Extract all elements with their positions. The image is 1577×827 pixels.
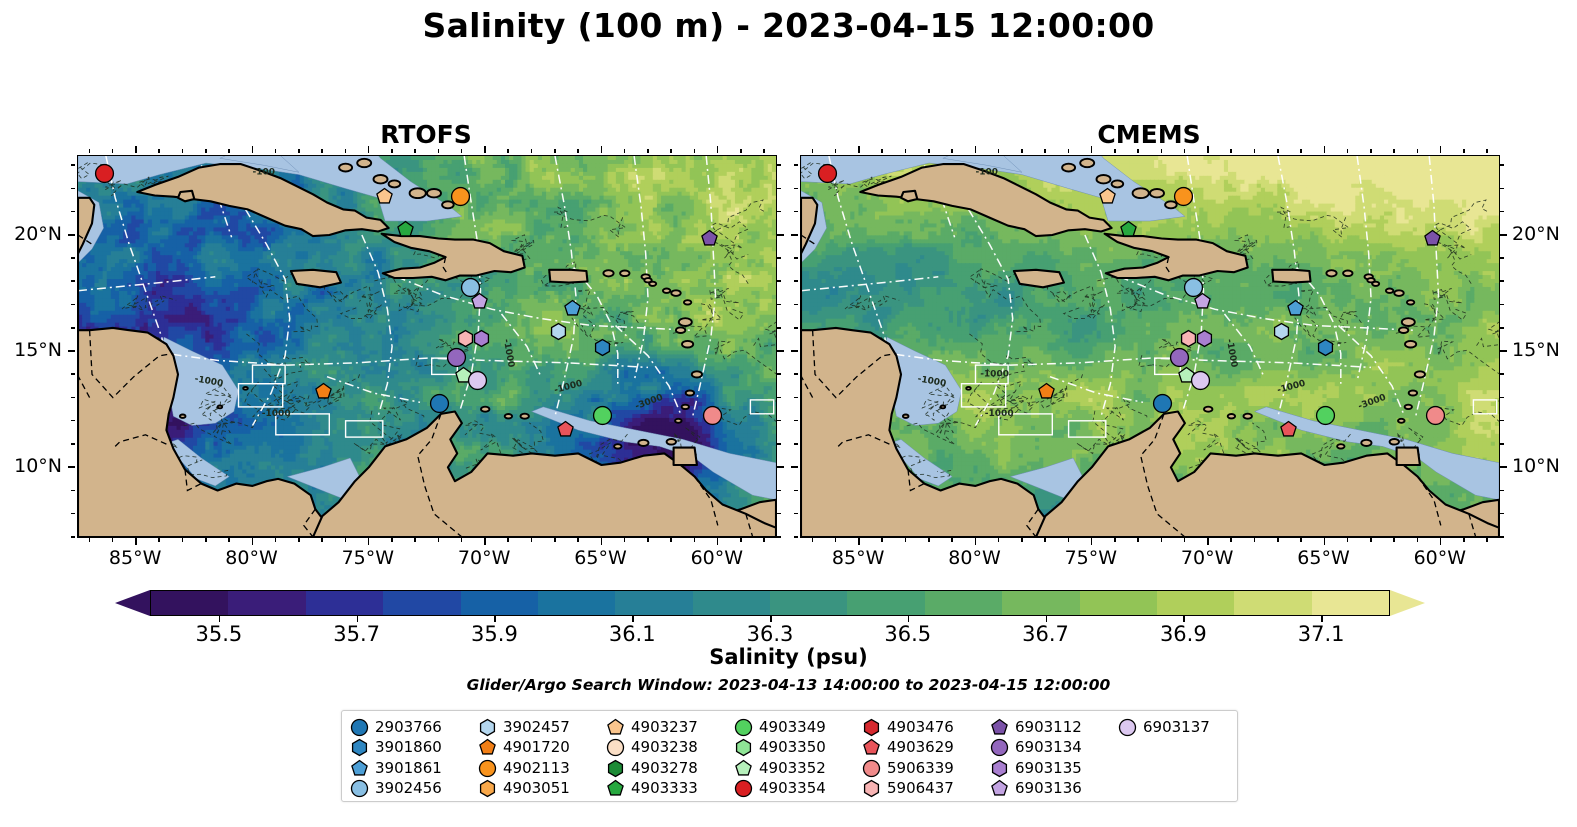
legend-item-label: 4903476: [887, 720, 954, 735]
x-tick-rtofs: [275, 538, 277, 542]
y-tick-right-cmems: [1500, 536, 1504, 538]
x-tick-top-rtofs: [252, 146, 254, 153]
legend-item-label: 4903238: [631, 740, 698, 755]
legend-marker-icon: [991, 780, 1008, 797]
legend-item-label: 4903051: [503, 781, 570, 796]
x-tick-top-cmems: [1091, 146, 1093, 153]
x-tick-cmems: [1068, 538, 1070, 542]
x-tick-rtofs: [321, 538, 323, 542]
legend-marker-icon: [1119, 719, 1136, 736]
platform-marker-4903354[interactable]: [818, 164, 837, 183]
legend-item-label: 4903333: [631, 781, 698, 796]
y-tick-label-cmems: 10°N: [1512, 455, 1577, 477]
x-tick-cmems: [835, 538, 837, 542]
colorbar-tick-label: 37.1: [1271, 622, 1371, 646]
x-tick-top-cmems: [1347, 149, 1349, 153]
platform-marker-4901720[interactable]: [1038, 383, 1055, 400]
legend-item-label: 6903136: [1015, 781, 1082, 796]
colorbar-band-6: [615, 591, 692, 615]
legend-item-6903136[interactable]: 6903136: [991, 779, 1119, 800]
x-tick-rtofs: [531, 538, 533, 542]
platform-marker-5906437[interactable]: [457, 330, 474, 347]
colorbar-band-15: [1312, 591, 1389, 615]
x-tick-cmems: [1463, 538, 1465, 542]
legend-marker-icon: [607, 719, 624, 736]
x-tick-top-rtofs: [624, 149, 626, 153]
y-tick-left-rtofs: [71, 257, 75, 259]
legend-item-4903333[interactable]: 4903333: [607, 779, 735, 800]
x-tick-top-cmems: [1440, 146, 1442, 153]
x-tick-cmems: [1021, 538, 1023, 542]
x-tick-top-cmems: [1277, 149, 1279, 153]
y-tick-right-cmems: [1500, 164, 1504, 166]
x-tick-label-rtofs: 70°W: [439, 547, 529, 569]
platform-marker-4903629[interactable]: [1280, 421, 1297, 438]
x-tick-rtofs: [763, 538, 765, 542]
x-tick-label-cmems: 65°W: [1279, 547, 1369, 569]
legend-item-label: 4903278: [631, 761, 698, 776]
x-tick-label-cmems: 85°W: [813, 547, 903, 569]
x-tick-top-cmems: [1463, 149, 1465, 153]
y-tick-left-cmems: [794, 164, 798, 166]
platform-marker-6903134[interactable]: [1170, 348, 1189, 367]
x-tick-cmems: [1044, 538, 1046, 542]
platform-marker-3901861[interactable]: [1287, 300, 1304, 317]
x-tick-top-rtofs: [158, 149, 160, 153]
colorbar-band-1: [228, 591, 305, 615]
platform-marker-6903136[interactable]: [471, 293, 488, 310]
y-tick-left-rtofs: [71, 490, 75, 492]
map-panel-rtofs[interactable]: -1000-1000-1000-1000-3000-100: [77, 155, 777, 538]
x-tick-top-cmems: [1417, 149, 1419, 153]
y-tick-right-cmems: [1500, 397, 1504, 399]
y-tick-right-cmems: [1500, 280, 1504, 282]
colorbar-band-2: [306, 591, 383, 615]
y-tick-left-cmems: [794, 420, 798, 422]
y-tick-left-cmems: [794, 304, 798, 306]
platform-marker-3902457[interactable]: [1273, 323, 1290, 340]
legend-item-6903135[interactable]: 6903135: [991, 758, 1119, 779]
x-tick-top-cmems: [1324, 146, 1326, 153]
y-tick-right-rtofs: [777, 188, 781, 190]
platform-marker-6903134[interactable]: [447, 348, 466, 367]
legend-marker-icon: [863, 719, 880, 736]
legend-item-4903352[interactable]: 4903352: [735, 758, 863, 779]
platform-marker-5906437[interactable]: [1180, 330, 1197, 347]
x-tick-top-rtofs: [205, 149, 207, 153]
y-tick-right-rtofs: [777, 397, 781, 399]
x-tick-rtofs: [252, 538, 254, 545]
x-tick-rtofs: [647, 538, 649, 542]
legend-item-label: 2903766: [375, 720, 442, 735]
legend-item-label: 3901861: [375, 761, 442, 776]
legend-grid: 2903766 3902457 4903237 4903349 4903476 …: [351, 717, 1247, 799]
y-tick-left-cmems: [794, 211, 798, 213]
x-tick-rtofs: [345, 538, 347, 542]
x-tick-top-cmems: [905, 149, 907, 153]
y-tick-right-rtofs: [777, 443, 781, 445]
x-tick-label-cmems: 70°W: [1162, 547, 1252, 569]
y-tick-left-cmems: [794, 188, 798, 190]
legend-item-3901860[interactable]: 3901860: [351, 738, 479, 759]
x-tick-rtofs: [694, 538, 696, 542]
x-tick-cmems: [1393, 538, 1395, 542]
platform-marker-5906339[interactable]: [703, 406, 722, 425]
y-tick-label-rtofs: 15°N: [0, 339, 62, 361]
legend-item-label: 3901860: [375, 740, 442, 755]
colorbar-label: Salinity (psu): [0, 645, 1577, 669]
x-tick-top-rtofs: [740, 149, 742, 153]
x-tick-cmems: [975, 538, 977, 545]
platform-marker-4901720[interactable]: [315, 383, 332, 400]
x-tick-rtofs: [182, 538, 184, 542]
x-tick-top-rtofs: [647, 149, 649, 153]
legend-item-3902457[interactable]: 3902457: [479, 717, 607, 738]
x-tick-rtofs: [554, 538, 556, 542]
x-tick-cmems: [905, 538, 907, 542]
x-tick-rtofs: [438, 538, 440, 542]
x-tick-top-cmems: [928, 149, 930, 153]
platform-marker-6903135[interactable]: [473, 330, 490, 347]
x-tick-cmems: [1277, 538, 1279, 542]
x-tick-rtofs: [158, 538, 160, 542]
x-tick-top-rtofs: [670, 149, 672, 153]
legend-item-label: 5906437: [887, 781, 954, 796]
x-tick-cmems: [1370, 538, 1372, 542]
legend-item-label: 3902456: [375, 781, 442, 796]
platform-marker-4903237[interactable]: [376, 188, 393, 205]
legend-item-4901720[interactable]: 4901720: [479, 738, 607, 759]
y-tick-label-cmems: 20°N: [1512, 223, 1577, 245]
legend-item-2903766[interactable]: 2903766: [351, 717, 479, 738]
y-tick-label-rtofs: 10°N: [0, 455, 62, 477]
legend-item-label: 6903112: [1015, 720, 1082, 735]
y-tick-left-rtofs: [71, 373, 75, 375]
x-tick-rtofs: [577, 538, 579, 542]
legend-item-label: 6903137: [1143, 720, 1210, 735]
colorbar-tick-label: 36.1: [582, 622, 682, 646]
x-tick-top-cmems: [881, 149, 883, 153]
x-tick-rtofs: [391, 538, 393, 542]
y-tick-left-rtofs: [68, 350, 75, 352]
y-tick-right-cmems: [1500, 490, 1504, 492]
x-tick-top-cmems: [1044, 149, 1046, 153]
x-tick-cmems: [881, 538, 883, 542]
y-tick-right-cmems: [1500, 327, 1504, 329]
x-tick-top-rtofs: [89, 149, 91, 153]
x-tick-top-cmems: [1254, 149, 1256, 153]
platform-marker-6903112[interactable]: [701, 230, 718, 247]
x-tick-label-rtofs: 65°W: [556, 547, 646, 569]
y-tick-right-rtofs: [777, 536, 781, 538]
platform-marker-3901860[interactable]: [594, 339, 611, 356]
legend-item-label: 4903350: [759, 740, 826, 755]
platform-marker-3902457[interactable]: [550, 323, 567, 340]
x-tick-cmems: [812, 538, 814, 542]
x-tick-rtofs: [298, 538, 300, 542]
x-tick-top-rtofs: [438, 149, 440, 153]
salinity-field-rtofs: -1000-1000-1000-1000-3000-100: [78, 156, 776, 537]
colorbar-tick-label: 35.9: [444, 622, 544, 646]
y-tick-left-cmems: [794, 280, 798, 282]
legend-marker-icon: [863, 780, 880, 797]
platform-marker-4903629[interactable]: [557, 421, 574, 438]
colorbar-band-5: [538, 591, 615, 615]
search-window-caption: Glider/Argo Search Window: 2023-04-13 14…: [0, 676, 1577, 694]
x-tick-rtofs: [601, 538, 603, 545]
colorbar-band-8: [770, 591, 847, 615]
y-tick-right-cmems: [1500, 188, 1504, 190]
legend-item-label: 6903134: [1015, 740, 1082, 755]
x-tick-cmems: [858, 538, 860, 545]
legend-item-6903137[interactable]: 6903137: [1119, 717, 1247, 738]
legend-item-6903134[interactable]: 6903134: [991, 738, 1119, 759]
legend-item-4903350[interactable]: 4903350: [735, 738, 863, 759]
platform-marker-6903137[interactable]: [1191, 371, 1210, 390]
x-tick-top-cmems: [1393, 149, 1395, 153]
x-tick-rtofs: [112, 538, 114, 542]
y-tick-left-cmems: [794, 327, 798, 329]
panel-title-rtofs: RTOFS: [77, 120, 775, 149]
platform-marker-3901860[interactable]: [1317, 339, 1334, 356]
colorbar-tick-label: 35.5: [169, 622, 269, 646]
legend-marker-icon: [607, 760, 624, 777]
colorbar-band-11: [1002, 591, 1079, 615]
y-tick-right-rtofs: [777, 304, 781, 306]
legend-marker-icon: [479, 780, 496, 797]
platform-marker-5906339[interactable]: [1426, 406, 1445, 425]
salinity-field-cmems: -1000-1000-1000-1000-3000-100-1000: [801, 156, 1499, 537]
platform-marker-4903333[interactable]: [397, 221, 414, 238]
colorbar-tick-label: 36.5: [858, 622, 958, 646]
x-tick-rtofs: [228, 538, 230, 542]
x-tick-cmems: [1230, 538, 1232, 542]
legend-item-4903354[interactable]: 4903354: [735, 779, 863, 800]
x-tick-top-cmems: [858, 146, 860, 153]
x-tick-top-cmems: [1021, 149, 1023, 153]
y-tick-left-rtofs: [71, 188, 75, 190]
legend-item-empty: [1119, 779, 1247, 800]
colorbar-band-12: [1080, 591, 1157, 615]
legend-marker-icon: [863, 739, 880, 756]
x-tick-cmems: [1161, 538, 1163, 542]
y-tick-right-rtofs: [777, 211, 781, 213]
colorbar-band-9: [847, 591, 924, 615]
platform-marker-4903349[interactable]: [593, 406, 612, 425]
y-tick-right-rtofs: [777, 373, 781, 375]
colorbar-extend-high: [1390, 590, 1425, 616]
x-tick-top-rtofs: [414, 149, 416, 153]
figure-canvas: Salinity (100 m) - 2023-04-15 12:00:00 R…: [0, 0, 1577, 827]
x-tick-cmems: [1254, 538, 1256, 542]
x-tick-cmems: [928, 538, 930, 542]
y-tick-right-cmems: [1500, 373, 1504, 375]
y-tick-right-cmems: [1500, 304, 1504, 306]
x-tick-label-rtofs: 75°W: [323, 547, 413, 569]
platform-marker-2903766[interactable]: [430, 394, 449, 413]
x-tick-rtofs: [717, 538, 719, 545]
platform-marker-4902113[interactable]: [451, 187, 470, 206]
x-tick-cmems: [1114, 538, 1116, 542]
platform-marker-2903766[interactable]: [1153, 394, 1172, 413]
colorbar-band-7: [693, 591, 770, 615]
y-tick-left-rtofs: [71, 327, 75, 329]
y-tick-left-cmems: [794, 443, 798, 445]
legend-item-empty: [1119, 738, 1247, 759]
y-tick-left-rtofs: [71, 420, 75, 422]
legend-item-label: 6903135: [1015, 761, 1082, 776]
legend-marker-icon: [863, 760, 880, 777]
x-tick-label-rtofs: 80°W: [207, 547, 297, 569]
colorbar-gradient: [150, 590, 1390, 616]
legend-item-label: 3902457: [503, 720, 570, 735]
x-tick-top-rtofs: [507, 149, 509, 153]
panel-title-cmems: CMEMS: [800, 120, 1498, 149]
x-tick-cmems: [1300, 538, 1302, 542]
x-tick-top-cmems: [1114, 149, 1116, 153]
legend-item-4902113[interactable]: 4902113: [479, 758, 607, 779]
y-tick-right-rtofs: [777, 280, 781, 282]
legend-item-label: 4902113: [503, 761, 570, 776]
legend-item-empty: [1119, 758, 1247, 779]
legend-item-6903112[interactable]: 6903112: [991, 717, 1119, 738]
legend-item-4903237[interactable]: 4903237: [607, 717, 735, 738]
legend-item-label: 4903237: [631, 720, 698, 735]
y-tick-right-rtofs: [777, 513, 781, 515]
x-tick-top-rtofs: [554, 149, 556, 153]
x-tick-top-rtofs: [182, 149, 184, 153]
legend-marker-icon: [735, 719, 752, 736]
legend-item-3902456[interactable]: 3902456: [351, 779, 479, 800]
platform-marker-4903237[interactable]: [1099, 188, 1116, 205]
x-tick-rtofs: [484, 538, 486, 545]
x-tick-top-cmems: [1300, 149, 1302, 153]
colorbar-band-3: [383, 591, 460, 615]
platform-marker-6903135[interactable]: [1196, 330, 1213, 347]
y-tick-left-cmems: [791, 234, 798, 236]
legend-item-4903238[interactable]: 4903238: [607, 738, 735, 759]
x-tick-rtofs: [414, 538, 416, 542]
colorbar-band-10: [925, 591, 1002, 615]
x-tick-label-cmems: 80°W: [930, 547, 1020, 569]
x-tick-top-rtofs: [321, 149, 323, 153]
x-tick-top-rtofs: [694, 149, 696, 153]
legend-item-label: 4901720: [503, 740, 570, 755]
y-tick-left-rtofs: [71, 443, 75, 445]
legend-item-label: 4903629: [887, 740, 954, 755]
legend-item-4903349[interactable]: 4903349: [735, 717, 863, 738]
platform-marker-4903354[interactable]: [95, 164, 114, 183]
x-tick-top-rtofs: [601, 146, 603, 153]
x-tick-rtofs: [507, 538, 509, 542]
x-tick-rtofs: [205, 538, 207, 542]
x-tick-top-cmems: [1068, 149, 1070, 153]
y-tick-right-rtofs: [777, 490, 781, 492]
legend-item-4903278[interactable]: 4903278: [607, 758, 735, 779]
y-tick-left-rtofs: [71, 536, 75, 538]
x-tick-top-rtofs: [484, 146, 486, 153]
platform-marker-4902113[interactable]: [1174, 187, 1193, 206]
y-tick-left-cmems: [791, 466, 798, 468]
y-tick-left-cmems: [794, 513, 798, 515]
x-tick-cmems: [1417, 538, 1419, 542]
y-tick-left-cmems: [794, 397, 798, 399]
y-tick-label-rtofs: 20°N: [0, 223, 62, 245]
platform-marker-4903333[interactable]: [1120, 221, 1137, 238]
x-tick-top-cmems: [975, 146, 977, 153]
y-tick-left-cmems: [794, 490, 798, 492]
y-tick-left-rtofs: [71, 164, 75, 166]
y-tick-left-cmems: [794, 257, 798, 259]
legend-marker-icon: [479, 739, 496, 756]
y-tick-left-rtofs: [68, 234, 75, 236]
x-tick-top-rtofs: [461, 149, 463, 153]
x-tick-top-rtofs: [135, 146, 137, 153]
map-panel-cmems[interactable]: -1000-1000-1000-1000-3000-100-1000: [800, 155, 1500, 538]
y-tick-left-cmems: [794, 373, 798, 375]
x-tick-cmems: [1440, 538, 1442, 545]
legend-item-4903629[interactable]: 4903629: [863, 738, 991, 759]
legend-marker-icon: [351, 780, 368, 797]
y-tick-right-cmems: [1500, 513, 1504, 515]
x-tick-top-cmems: [812, 149, 814, 153]
legend-item-3901861[interactable]: 3901861: [351, 758, 479, 779]
platform-marker-6903112[interactable]: [1424, 230, 1441, 247]
x-tick-rtofs: [89, 538, 91, 542]
legend-item-4903476[interactable]: 4903476: [863, 717, 991, 738]
x-tick-top-rtofs: [112, 149, 114, 153]
legend-marker-icon: [351, 760, 368, 777]
x-tick-rtofs: [461, 538, 463, 542]
x-tick-top-cmems: [998, 149, 1000, 153]
y-tick-right-rtofs: [777, 164, 781, 166]
x-tick-rtofs: [624, 538, 626, 542]
colorbar-tick-label: 36.3: [720, 622, 820, 646]
y-tick-left-rtofs: [71, 513, 75, 515]
platform-marker-6903137[interactable]: [468, 371, 487, 390]
platform-marker-4903349[interactable]: [1316, 406, 1335, 425]
x-tick-top-rtofs: [345, 149, 347, 153]
y-tick-right-rtofs: [777, 466, 784, 468]
x-tick-label-rtofs: 85°W: [90, 547, 180, 569]
page-title: Salinity (100 m) - 2023-04-15 12:00:00: [0, 6, 1577, 45]
x-tick-cmems: [998, 538, 1000, 542]
legend-marker-icon: [607, 739, 624, 756]
legend-marker-icon: [991, 719, 1008, 736]
x-tick-cmems: [1347, 538, 1349, 542]
y-tick-label-cmems: 15°N: [1512, 339, 1577, 361]
x-tick-top-cmems: [1230, 149, 1232, 153]
x-tick-cmems: [1137, 538, 1139, 542]
colorbar-band-0: [151, 591, 228, 615]
legend-marker-icon: [735, 739, 752, 756]
x-tick-top-rtofs: [391, 149, 393, 153]
colorbar-band-14: [1234, 591, 1311, 615]
y-tick-right-cmems: [1500, 466, 1507, 468]
colorbar-band-13: [1157, 591, 1234, 615]
x-tick-top-cmems: [1370, 149, 1372, 153]
platform-legend[interactable]: 2903766 3902457 4903237 4903349 4903476 …: [341, 710, 1238, 802]
colorbar[interactable]: 35.535.735.936.136.336.536.736.937.1: [115, 590, 1425, 616]
legend-item-5906437[interactable]: 5906437: [863, 779, 991, 800]
legend-item-4903051[interactable]: 4903051: [479, 779, 607, 800]
x-tick-top-cmems: [951, 149, 953, 153]
platform-marker-3901861[interactable]: [564, 300, 581, 317]
legend-item-5906339[interactable]: 5906339: [863, 758, 991, 779]
platform-marker-6903136[interactable]: [1194, 293, 1211, 310]
x-tick-rtofs: [368, 538, 370, 545]
colorbar-extend-low: [115, 590, 150, 616]
